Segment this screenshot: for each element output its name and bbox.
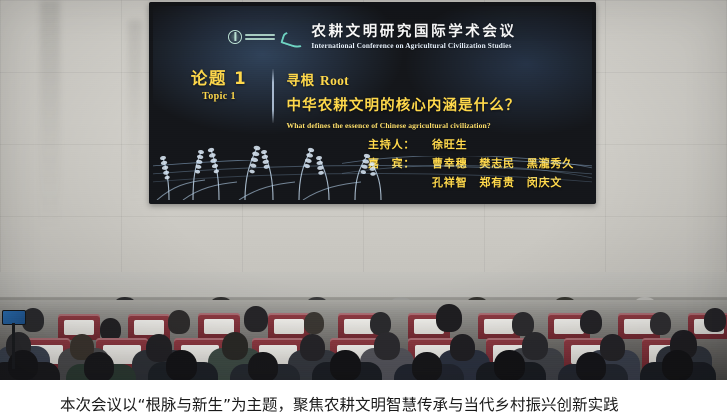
conference-photo: 农耕文明研究国际学术会议 International Conference on… [0, 0, 727, 380]
caption-text: 本次会议以“根脉与新生”为主题，聚焦农耕文明智慧传承与当代乡村振兴创新实践 [0, 380, 727, 416]
article-caption: 本次会议以“根脉与新生”为主题，聚焦农耕文明智慧传承与当代乡村振兴创新实践 [0, 380, 727, 416]
photo-vignette [0, 0, 727, 380]
